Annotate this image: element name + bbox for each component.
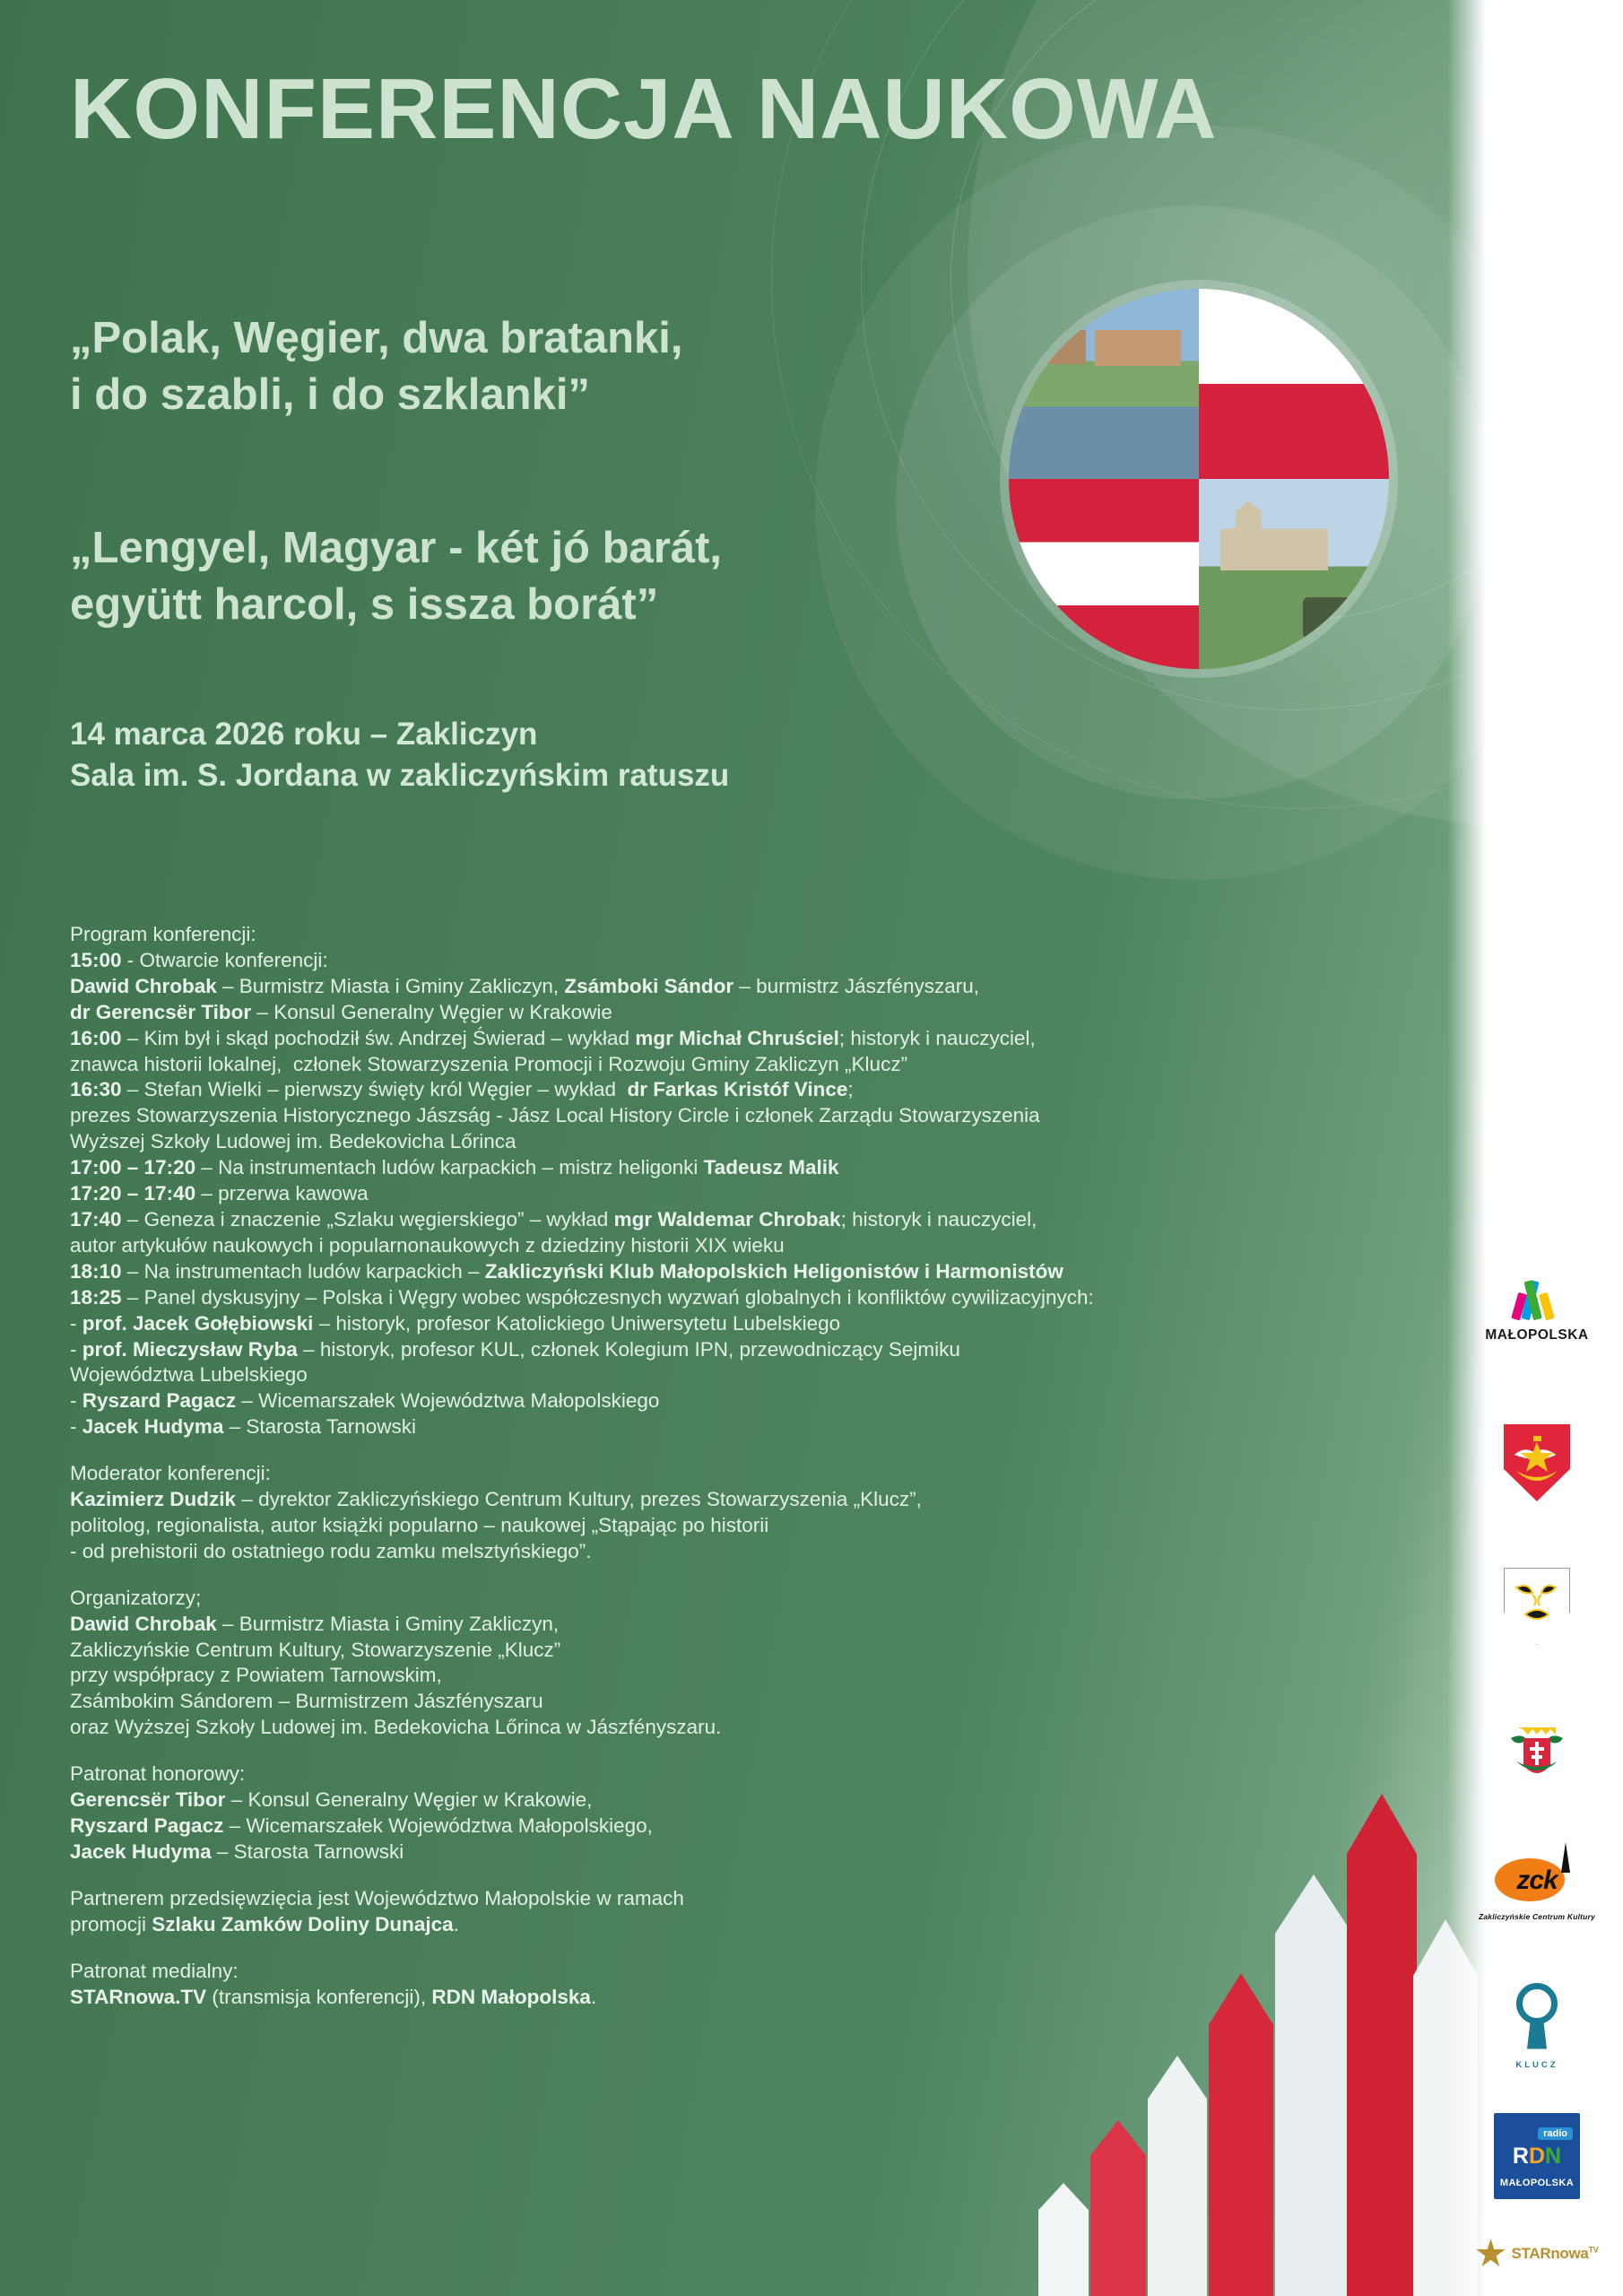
- text-line: Zsámbokim Sándorem – Burmistrzem Jászfén…: [70, 1689, 1415, 1715]
- media-patronage-lines: STARnowa.TV (transmisja konferencji), RD…: [70, 1985, 1415, 2011]
- text-line: 18:25 – Panel dyskusyjny – Polska i Węgr…: [70, 1285, 1415, 1311]
- poster-body: Program konferencji: 15:00 - Otwarcie ko…: [70, 922, 1415, 2010]
- text-line: Jacek Hudyma – Starosta Tarnowski: [70, 1839, 1415, 1865]
- tarnow-county-coat-of-arms: [1471, 1557, 1603, 1656]
- moderator-heading: Moderator konferencji:: [70, 1461, 1415, 1487]
- malopolska-logo-label: MAŁOPOLSKA: [1485, 1327, 1588, 1344]
- text-line: 17:20 – 17:40 – przerwa kawowa: [70, 1181, 1415, 1207]
- event-details: 14 marca 2026 roku – Zakliczyn Sala im. …: [70, 714, 729, 796]
- text-line: politolog, regionalista, autor książki p…: [70, 1513, 1415, 1539]
- organizers-section: Organizatorzy; Dawid Chrobak – Burmistrz…: [70, 1586, 1415, 1741]
- conference-poster: KONFERENCJA NAUKOWA „Polak, Węgier, dwa …: [0, 0, 1623, 2296]
- zck-subtitle: Zakliczyńskie Centrum Kultury: [1479, 1912, 1595, 1921]
- text-line: znawca historii lokalnej, członek Stowar…: [70, 1052, 1415, 1078]
- honorary-patronage-heading: Patronat honorowy:: [70, 1761, 1415, 1787]
- event-venue: Sala im. S. Jordana w zakliczyńskim ratu…: [70, 755, 729, 796]
- text-line: Gerencsër Tibor – Konsul Generalny Węgie…: [70, 1787, 1415, 1813]
- moderator-section: Moderator konferencji: Kazimierz Dudzik …: [70, 1461, 1415, 1565]
- malopolska-shield-icon: [1504, 1424, 1570, 1501]
- text-line: 17:40 – Geneza i znaczenie „Szlaku węgie…: [70, 1207, 1415, 1233]
- zck-logo: zck Zakliczyńskie Centrum Kultury: [1471, 1846, 1603, 1932]
- program-heading: Program konferencji:: [70, 922, 1415, 948]
- polish-motto-line-2: i do szabli, i do szklanki”: [70, 367, 683, 423]
- rdn-subtitle: MAŁOPOLSKA: [1494, 2178, 1580, 2188]
- rdn-mark-icon: radio RDN MAŁOPOLSKA: [1494, 2113, 1580, 2199]
- text-line: 17:00 – 17:20 – Na instrumentach ludów k…: [70, 1155, 1415, 1181]
- page-title: KONFERENCJA NAUKOWA: [70, 66, 1217, 152]
- polish-motto-line-1: „Polak, Węgier, dwa bratanki,: [70, 310, 683, 367]
- text-line: STARnowa.TV (transmisja konferencji), RD…: [70, 1985, 1415, 2011]
- moderator-lines: Kazimierz Dudzik – dyrektor Zakliczyński…: [70, 1487, 1415, 1565]
- text-line: - od prehistorii do ostatniego rodu zamk…: [70, 1539, 1415, 1565]
- text-line: Dawid Chrobak – Burmistrz Miasta i Gminy…: [70, 974, 1415, 1000]
- text-line: - prof. Mieczysław Ryba – historyk, prof…: [70, 1337, 1415, 1363]
- program-lines: 15:00 - Otwarcie konferencji:Dawid Chrob…: [70, 948, 1415, 1440]
- klucz-logo: KLUCZ: [1471, 1977, 1603, 2075]
- circular-emblem: [1009, 289, 1389, 669]
- chevron-white-4: [1038, 2183, 1089, 2296]
- event-date: 14 marca 2026 roku – Zakliczyn: [70, 714, 729, 755]
- text-line: dr Gerencsër Tibor – Konsul Generalny Wę…: [70, 1000, 1415, 1026]
- honorary-patronage-lines: Gerencsër Tibor – Konsul Generalny Węgie…: [70, 1787, 1415, 1865]
- hungarian-motto-line-2: együtt harcol, s issza borát”: [70, 577, 722, 633]
- text-line: Kazimierz Dudzik – dyrektor Zakliczyński…: [70, 1487, 1415, 1513]
- star-icon: [1476, 2239, 1506, 2269]
- hungarian-motto: „Lengyel, Magyar - két jó barát, együtt …: [70, 520, 722, 632]
- malopolska-m-icon: [1509, 1276, 1565, 1319]
- text-line: 16:00 – Kim był i skąd pochodził św. And…: [70, 1026, 1415, 1052]
- starnowa-wordmark: STARnowaTV: [1512, 2245, 1599, 2263]
- tarnow-shield-icon: [1504, 1568, 1570, 1645]
- organizers-heading: Organizatorzy;: [70, 1586, 1415, 1612]
- klucz-wordmark: KLUCZ: [1515, 2060, 1558, 2070]
- krakow-photo: [1009, 289, 1199, 479]
- hungarian-flag-icon: [1009, 479, 1199, 669]
- chevron-white-3: [1148, 2056, 1207, 2296]
- jaszfenyszaru-shield-icon: [1504, 1711, 1570, 1788]
- text-line: oraz Wyższej Szkoły Ludowej im. Bedekovi…: [70, 1715, 1415, 1741]
- zck-wordmark: zck: [1482, 1867, 1592, 1894]
- chevron-red-2: [1209, 1973, 1273, 2296]
- malopolska-brand-logo: MAŁOPOLSKA: [1471, 1259, 1603, 1360]
- klucz-keyhole-icon: [1506, 1983, 1568, 2058]
- budapest-photo: [1199, 479, 1389, 669]
- zck-mark-icon: zck: [1482, 1857, 1592, 1909]
- jaszfenyszaru-coat-of-arms: [1471, 1700, 1603, 1799]
- text-line: prezes Stowarzyszenia Historycznego Jász…: [70, 1103, 1415, 1129]
- text-line: 15:00 - Otwarcie konferencji:: [70, 948, 1415, 974]
- organizers-lines: Dawid Chrobak – Burmistrz Miasta i Gminy…: [70, 1612, 1415, 1742]
- text-line: Partnerem przedsięwzięcia jest Województ…: [70, 1886, 1415, 1912]
- media-patronage-heading: Patronat medialny:: [70, 1959, 1415, 1985]
- starnowa-mark: STARnowaTV: [1476, 2239, 1599, 2269]
- chevron-red-3: [1090, 2120, 1146, 2296]
- malopolska-coat-of-arms: [1471, 1413, 1603, 1512]
- text-line: Województwa Lubelskiego: [70, 1362, 1415, 1388]
- honorary-patronage-section: Patronat honorowy: Gerencsër Tibor – Kon…: [70, 1761, 1415, 1865]
- text-line: 18:10 – Na instrumentach ludów karpackic…: [70, 1259, 1415, 1285]
- text-line: Zakliczyńskie Centrum Kultury, Stowarzys…: [70, 1638, 1415, 1664]
- text-line: Ryszard Pagacz – Wicemarszałek Województ…: [70, 1813, 1415, 1839]
- hungarian-motto-line-1: „Lengyel, Magyar - két jó barát,: [70, 520, 722, 577]
- media-patronage-section: Patronat medialny: STARnowa.TV (transmis…: [70, 1959, 1415, 2011]
- program-section: Program konferencji: 15:00 - Otwarcie ko…: [70, 922, 1415, 1440]
- text-line: - Ryszard Pagacz – Wicemarszałek Wojewód…: [70, 1388, 1415, 1414]
- text-line: Wyższej Szkoły Ludowej im. Bedekovicha L…: [70, 1129, 1415, 1155]
- text-line: 16:30 – Stefan Wielki – pierwszy święty …: [70, 1077, 1415, 1103]
- partner-lines: Partnerem przedsięwzięcia jest Województ…: [70, 1886, 1415, 1938]
- rdn-radio-badge: radio: [1538, 2127, 1573, 2140]
- rdn-wordmark: RDN: [1494, 2145, 1580, 2168]
- text-line: - prof. Jacek Gołębiowski – historyk, pr…: [70, 1311, 1415, 1337]
- text-line: przy współpracy z Powiatem Tarnowskim,: [70, 1663, 1415, 1689]
- starnowa-tv-logo: STARnowaTV: [1471, 2222, 1603, 2285]
- partner-section: Partnerem przedsięwzięcia jest Województ…: [70, 1886, 1415, 1938]
- text-line: promocji Szlaku Zamków Doliny Dunajca.: [70, 1912, 1415, 1938]
- polish-motto: „Polak, Węgier, dwa bratanki, i do szabl…: [70, 310, 683, 422]
- sponsor-logo-rail: MAŁOPOLSKA: [1447, 0, 1623, 2296]
- text-line: autor artykułów naukowych i popularnonau…: [70, 1233, 1415, 1259]
- rdn-malopolska-logo: radio RDN MAŁOPOLSKA: [1471, 2109, 1603, 2203]
- text-line: Dawid Chrobak – Burmistrz Miasta i Gminy…: [70, 1612, 1415, 1638]
- polish-flag-icon: [1199, 289, 1389, 479]
- text-line: - Jacek Hudyma – Starosta Tarnowski: [70, 1414, 1415, 1440]
